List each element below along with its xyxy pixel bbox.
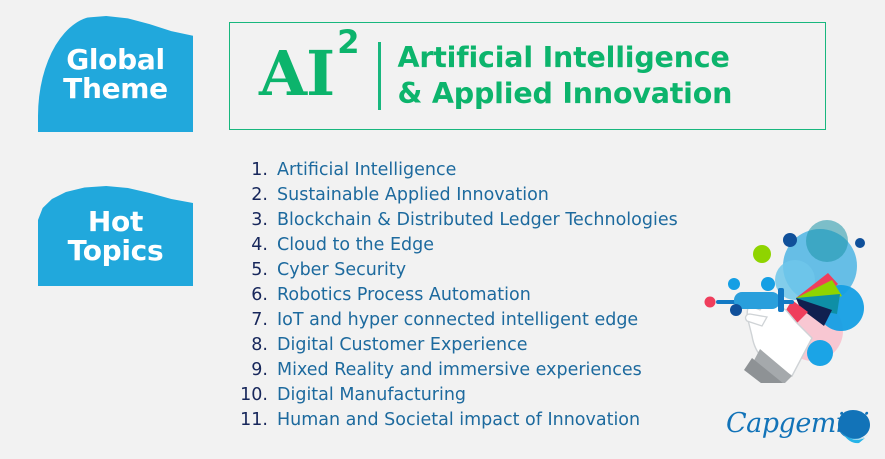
badge-hot-topics: Hot Topics xyxy=(38,186,193,286)
list-item: 2. Sustainable Applied Innovation xyxy=(231,185,701,210)
hot-topics-list: 1. Artificial Intelligence 2. Sustainabl… xyxy=(231,160,701,436)
ai-mark-letters: AI xyxy=(259,37,334,110)
badge-global-theme: Global Theme xyxy=(38,16,193,132)
page-title-line1: Artificial Intelligence xyxy=(398,40,733,76)
list-item-label: IoT and hyper connected intelligent edge xyxy=(277,310,638,330)
list-item: 1. Artificial Intelligence xyxy=(231,160,701,185)
list-item: 11. Human and Societal impact of Innovat… xyxy=(231,410,701,435)
list-item: 5. Cyber Security xyxy=(231,260,701,285)
list-item-number: 2. xyxy=(231,185,277,205)
badge-global-theme-line1: Global xyxy=(63,45,168,74)
list-item: 3. Blockchain & Distributed Ledger Techn… xyxy=(231,210,701,235)
list-item: 9. Mixed Reality and immersive experienc… xyxy=(231,360,701,385)
list-item-label: Digital Customer Experience xyxy=(277,335,527,355)
badge-hot-topics-line2: Topics xyxy=(68,236,164,265)
title-divider xyxy=(378,42,381,110)
list-item-label: Cloud to the Edge xyxy=(277,235,434,255)
badge-global-theme-line2: Theme xyxy=(63,74,168,103)
list-item: 8. Digital Customer Experience xyxy=(231,335,701,360)
list-item-number: 9. xyxy=(231,360,277,380)
badge-hot-topics-line1: Hot xyxy=(68,207,164,236)
page-title-line2: & Applied Innovation xyxy=(398,76,733,112)
list-item-label: Robotics Process Automation xyxy=(277,285,531,305)
slide-canvas: Global Theme Hot Topics AI2 Artificial I… xyxy=(0,0,885,459)
hand-dart-illustration xyxy=(700,218,875,383)
list-item-number: 1. xyxy=(231,160,277,180)
list-item-label: Sustainable Applied Innovation xyxy=(277,185,549,205)
page-title: Artificial Intelligence & Applied Innova… xyxy=(398,40,733,112)
capgemini-swoosh-icon xyxy=(832,407,876,447)
list-item-label: Mixed Reality and immersive experiences xyxy=(277,360,642,380)
list-item-number: 10. xyxy=(231,385,277,405)
list-item: 4. Cloud to the Edge xyxy=(231,235,701,260)
list-item-label: Digital Manufacturing xyxy=(277,385,466,405)
hand-dart-icon xyxy=(700,218,875,383)
list-item-label: Human and Societal impact of Innovation xyxy=(277,410,640,430)
list-item-number: 4. xyxy=(231,235,277,255)
list-item-label: Cyber Security xyxy=(277,260,406,280)
list-item: 7. IoT and hyper connected intelligent e… xyxy=(231,310,701,335)
list-item-label: Artificial Intelligence xyxy=(277,160,456,180)
list-item-label: Blockchain & Distributed Ledger Technolo… xyxy=(277,210,678,230)
list-item-number: 5. xyxy=(231,260,277,280)
list-item: 10. Digital Manufacturing xyxy=(231,385,701,410)
list-item-number: 3. xyxy=(231,210,277,230)
list-item: 6. Robotics Process Automation xyxy=(231,285,701,310)
ai-mark-exponent: 2 xyxy=(337,23,358,61)
title-box: AI2 Artificial Intelligence & Applied In… xyxy=(229,22,826,130)
list-item-number: 11. xyxy=(231,410,277,430)
list-item-number: 8. xyxy=(231,335,277,355)
list-item-number: 7. xyxy=(231,310,277,330)
ai-squared-mark: AI2 xyxy=(259,43,359,105)
list-item-number: 6. xyxy=(231,285,277,305)
capgemini-logo: Capgemini xyxy=(726,406,874,448)
